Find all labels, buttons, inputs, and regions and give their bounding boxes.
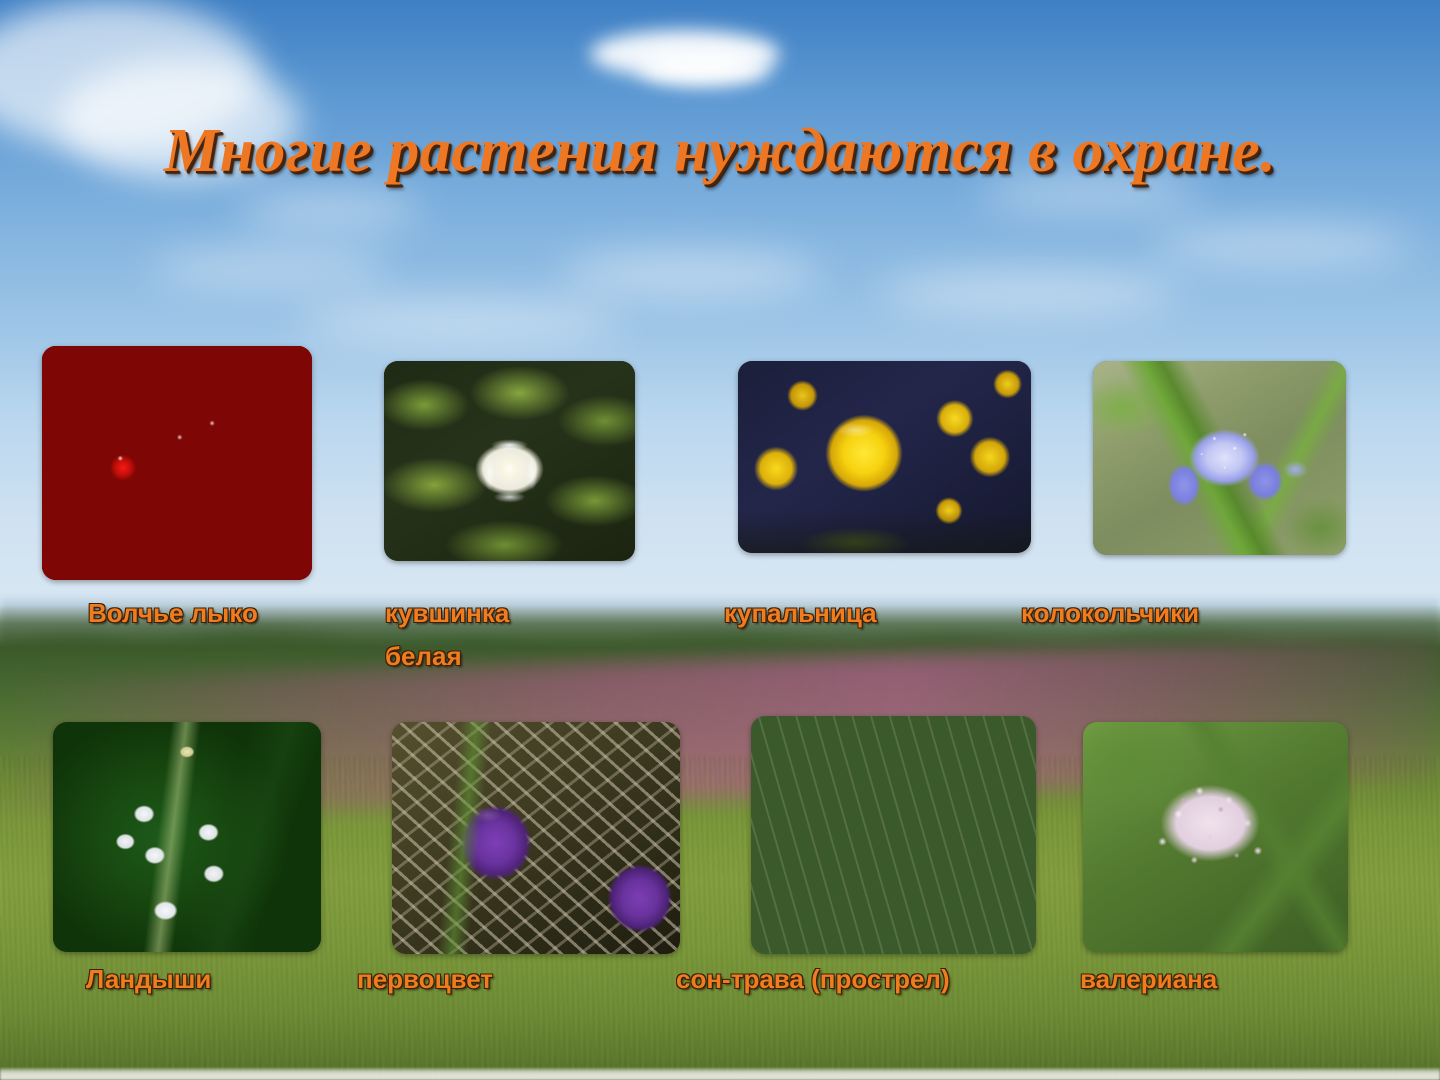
photo-yellow-globeflowers [738,361,1031,553]
photo-purple-crocus [392,722,680,954]
cloud-icon [640,52,770,86]
photo-white-water-lily-on-lily-pads [384,361,635,561]
photo-red-berries-on-branch [42,346,312,580]
presentation-slide: Многие растения нуждаются в охране. Волч… [0,0,1440,1080]
photo-tile-landyshi[interactable] [53,722,321,952]
photo-tile-volchye-lyko[interactable] [42,346,312,580]
caption-pervocvet: первоцвет [357,958,597,1001]
caption-kuvshinka-belaya: кувшинка белая [385,592,635,678]
photo-tile-kupalnica[interactable] [738,361,1031,553]
photo-tile-son-trava[interactable] [751,716,1036,954]
photo-lily-of-the-valley [53,722,321,952]
caption-valeriana: валериана [1080,958,1340,1001]
photo-tile-kolokolchiki[interactable] [1093,361,1346,555]
photo-blue-bellflower-with-dew [1093,361,1346,555]
cloud-icon [150,250,390,286]
photo-tile-kuvshinka-belaya[interactable] [384,361,635,561]
slide-title: Многие растения нуждаются в охране. [0,116,1440,187]
caption-landyshi: Ландыши [86,958,326,1001]
cloud-icon [1150,225,1410,265]
cloud-icon [240,190,420,230]
caption-son-trava: сон-трава (прострел) [676,958,1056,1001]
bottom-edge-strip [0,1068,1440,1080]
caption-kolokolchiki: колокольчики [1021,592,1301,635]
photo-valerian-flower-cluster [1083,722,1348,952]
caption-volchye-lyko: Волчье лыко [88,592,328,635]
caption-kupalnica: купальница [724,592,984,635]
photo-tile-pervocvet[interactable] [392,722,680,954]
photo-tile-valeriana[interactable] [1083,722,1348,952]
cloud-icon [560,250,820,296]
cloud-icon [880,270,1180,314]
photo-pasqueflower [751,716,1036,954]
cloud-icon [300,300,620,342]
